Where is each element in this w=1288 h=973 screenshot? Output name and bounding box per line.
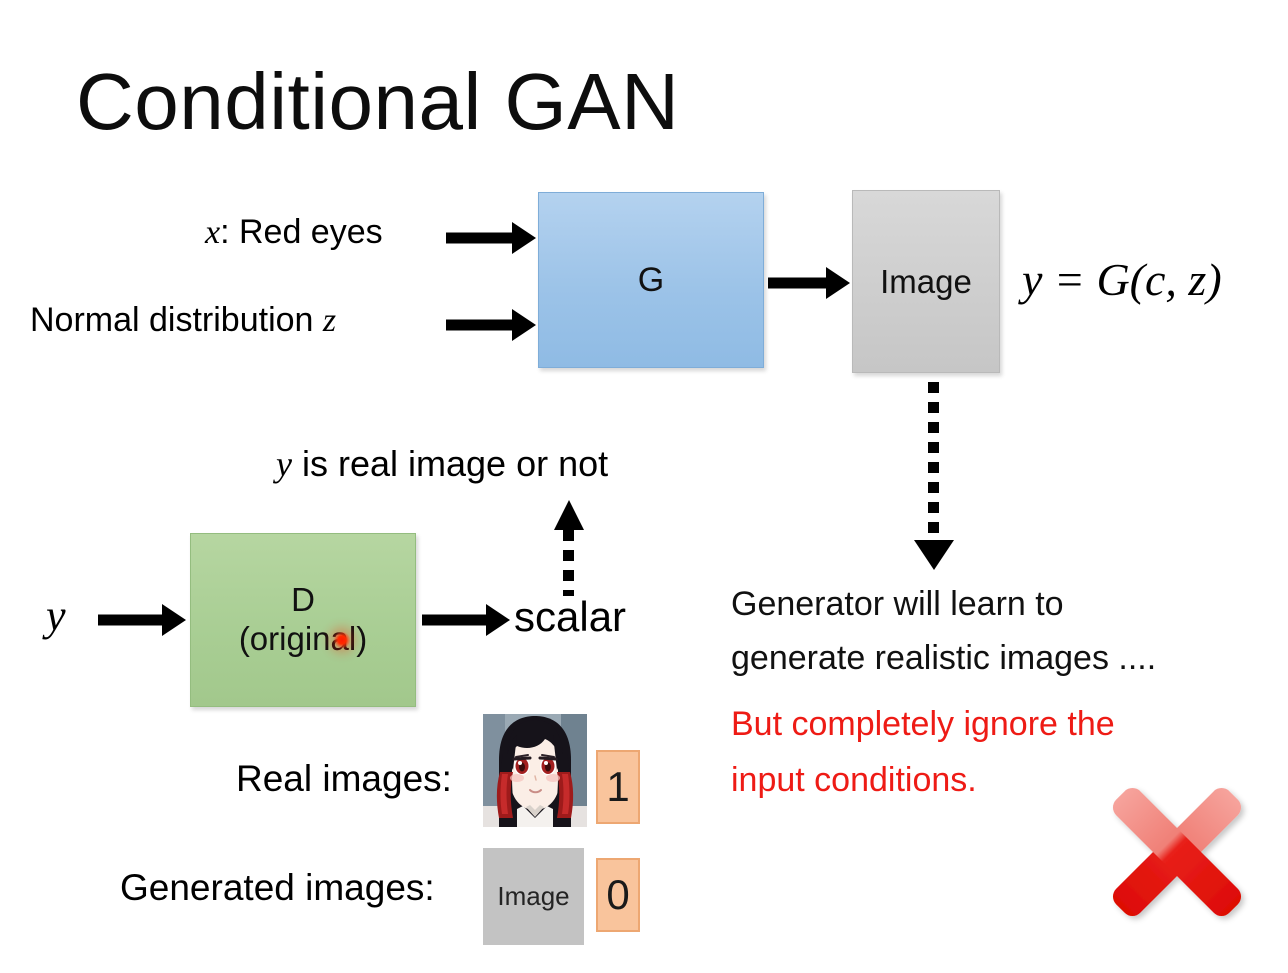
commentary-warning-line-1: But completely ignore the (731, 706, 1115, 743)
dotted-arrow-scalar-to-feedback (563, 500, 574, 596)
laser-pointer-icon (334, 632, 350, 648)
input-condition-symbol: x (205, 214, 220, 251)
slide-canvas: Conditional GAN x: Red eyes Normal distr… (0, 0, 1288, 973)
generator-block[interactable]: G (538, 192, 764, 368)
red-x-mark-icon (1104, 778, 1250, 926)
input-condition-label: x: Red eyes (205, 214, 383, 251)
discriminator-feedback-label: y is real image or not (276, 444, 608, 485)
generated-thumbnail-label: Image (497, 881, 569, 912)
real-score-box: 1 (596, 750, 640, 824)
input-noise-label: Normal distribution z (30, 302, 336, 339)
page-title: Conditional GAN (76, 62, 679, 142)
dotted-arrow-image-to-commentary (928, 382, 939, 574)
generated-image-block[interactable]: Image (852, 190, 1000, 373)
input-noise-text: Normal distribution (30, 301, 323, 339)
generator-equation: y = G(c, z) (1022, 255, 1222, 306)
discriminator-feedback-symbol: y (276, 444, 292, 484)
generated-image-thumbnail[interactable]: Image (483, 848, 584, 945)
input-condition-text: : Red eyes (220, 213, 383, 251)
real-images-label: Real images: (236, 759, 452, 800)
discriminator-block-label: D (291, 581, 315, 620)
generator-block-label: G (638, 261, 664, 300)
real-image-thumbnail[interactable] (483, 714, 587, 827)
generated-image-block-label: Image (880, 263, 972, 301)
discriminator-block[interactable]: D (original) (190, 533, 416, 707)
commentary-line-2: generate realistic images .... (731, 640, 1156, 677)
discriminator-input-symbol: y (46, 592, 66, 640)
generated-score-box: 0 (596, 858, 640, 932)
discriminator-feedback-text: is real image or not (292, 443, 608, 484)
commentary-line-1: Generator will learn to (731, 586, 1064, 623)
generated-images-label: Generated images: (120, 868, 435, 909)
input-noise-symbol: z (323, 302, 336, 339)
commentary-warning-line-2: input conditions. (731, 762, 977, 799)
discriminator-output-label: scalar (514, 594, 626, 640)
